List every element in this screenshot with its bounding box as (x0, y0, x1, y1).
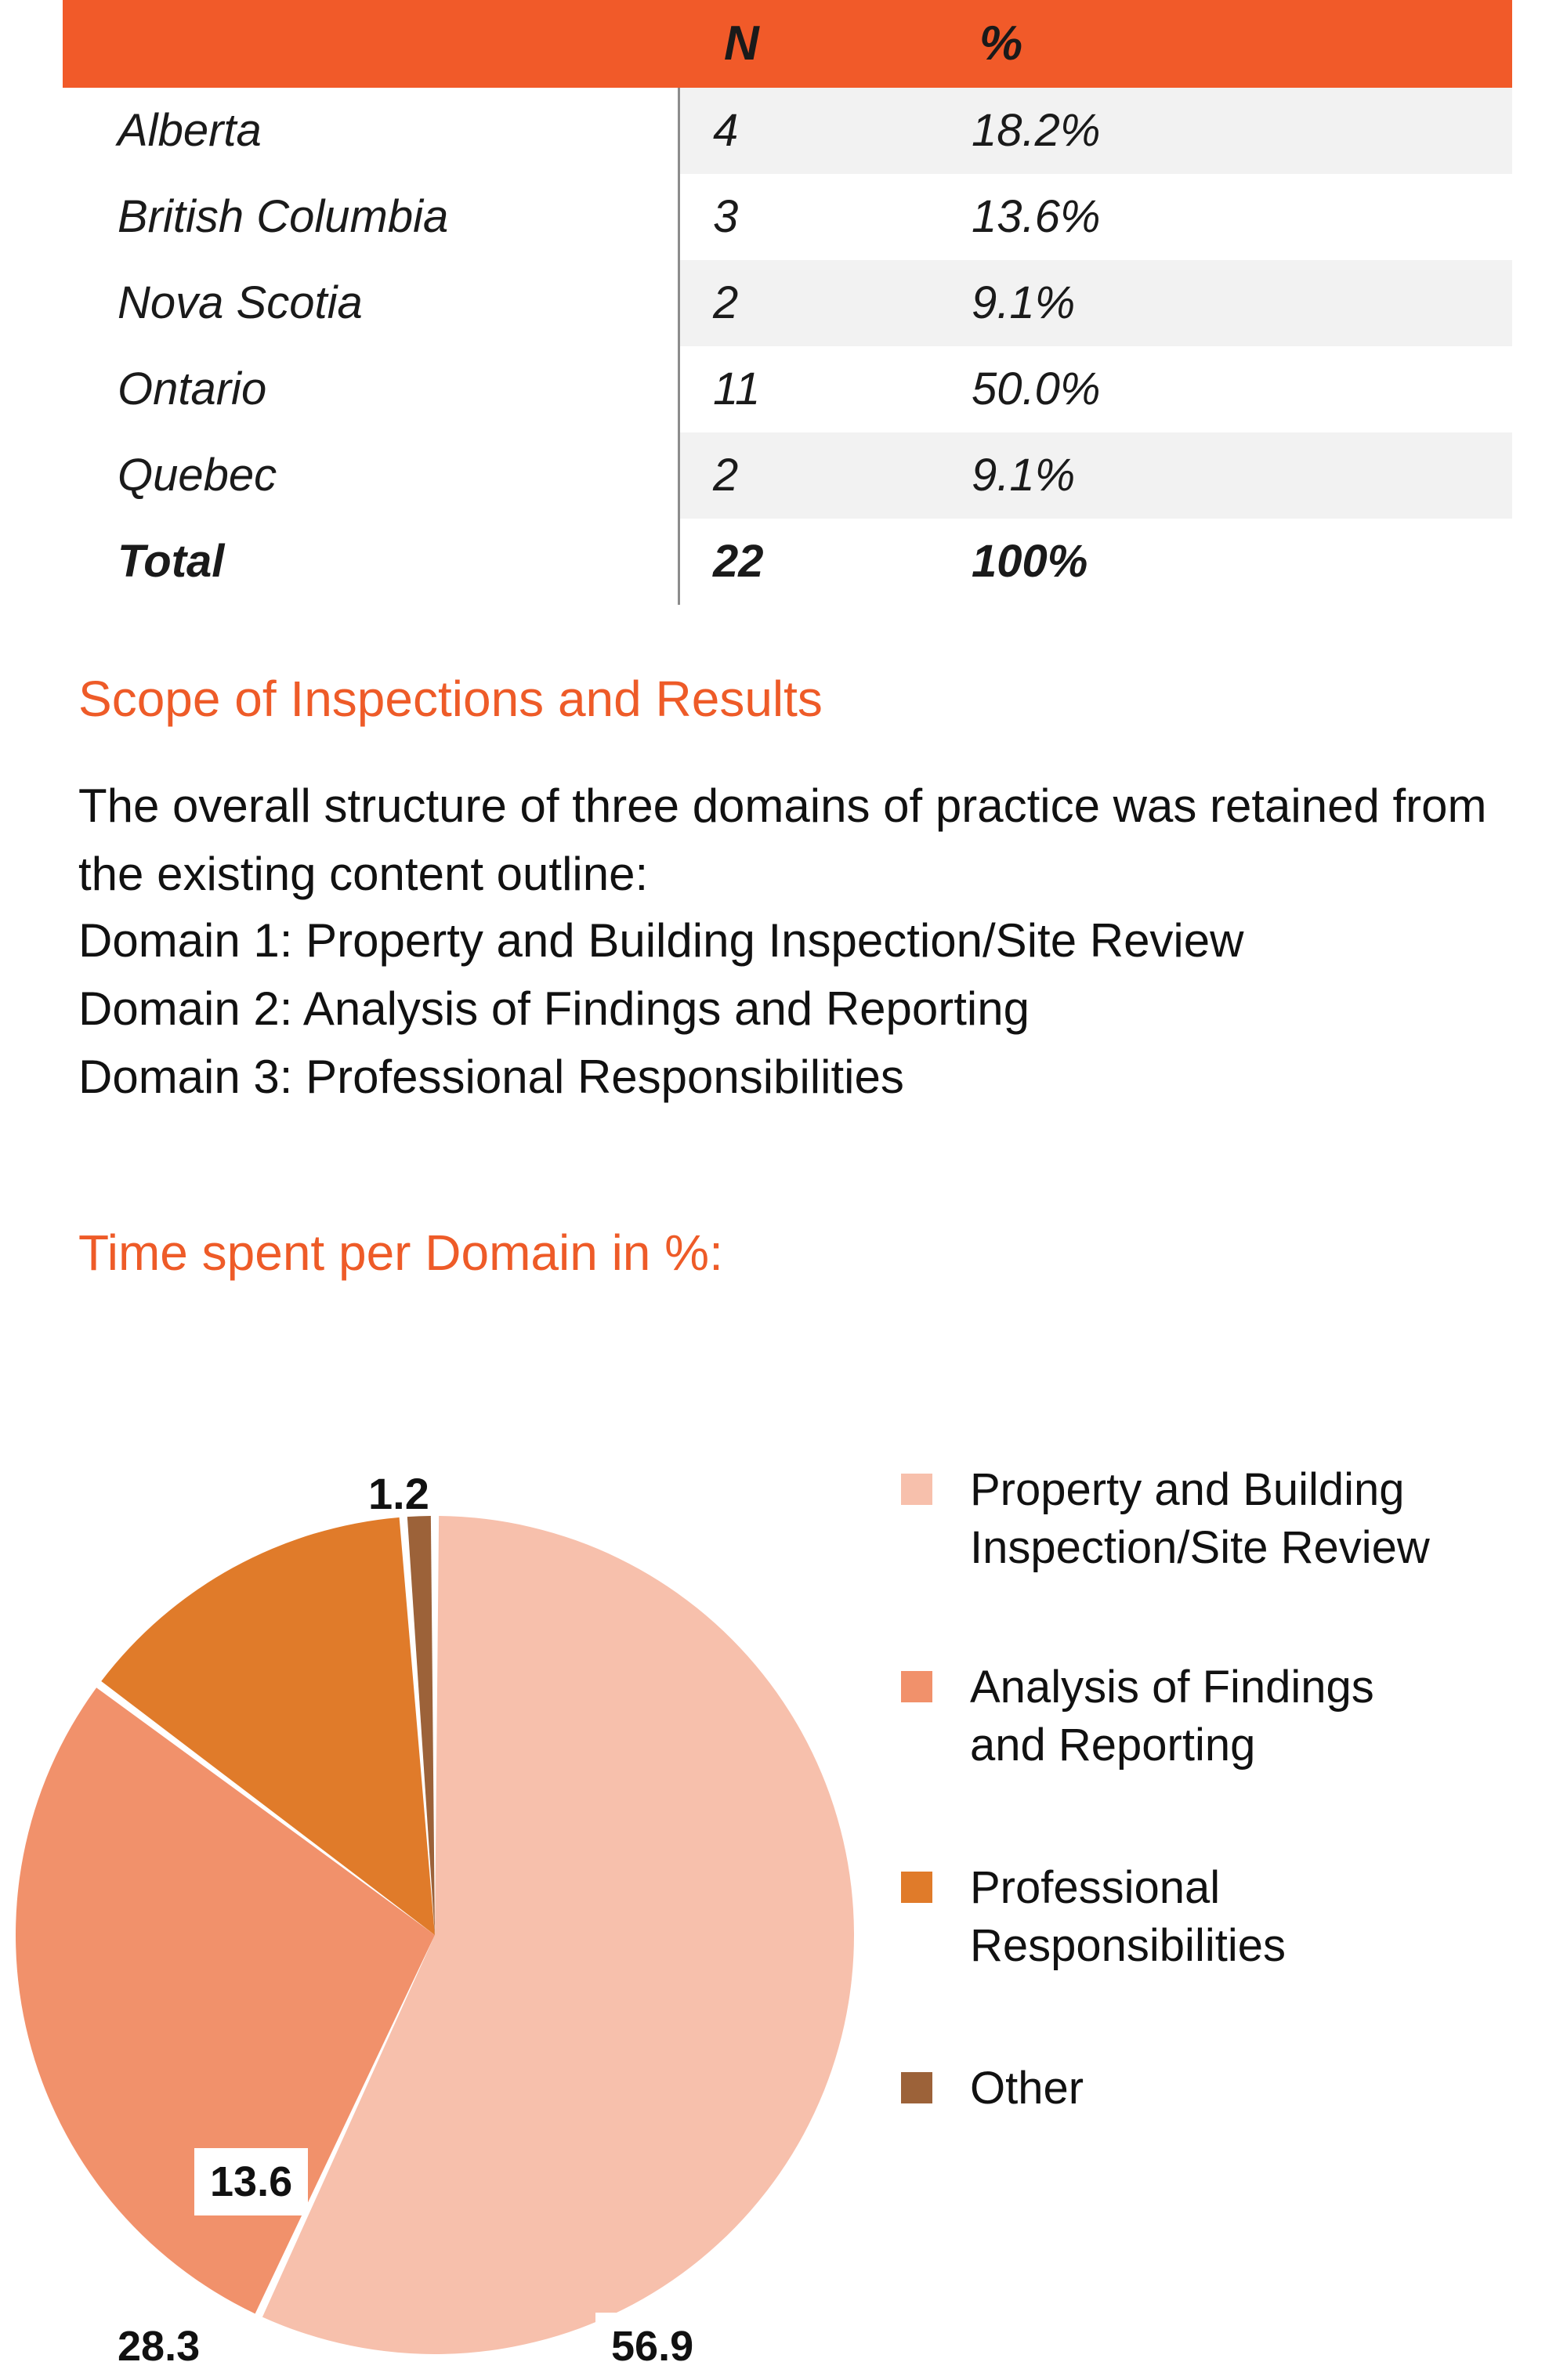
column-divider (678, 260, 680, 346)
row-label: Alberta (118, 88, 262, 174)
legend-item-domain3: Professional Responsibilities (901, 1859, 1543, 1975)
table-row: Nova Scotia 2 9.1% (63, 260, 1512, 346)
legend-item-domain1: Property and Building Inspection/Site Re… (901, 1461, 1543, 1577)
row-percent: 9.1% (972, 260, 1075, 346)
pie-data-label-domain2: 28.3 (102, 2313, 215, 2380)
legend-swatch-icon (901, 1872, 932, 1903)
pie-legend: Property and Building Inspection/Site Re… (901, 1461, 1543, 2193)
legend-label-line: Professional (970, 1859, 1543, 1917)
row-stripe (679, 432, 1512, 519)
row-percent: 13.6% (972, 174, 1100, 260)
row-label: Ontario (118, 346, 266, 432)
total-label: Total (118, 519, 224, 605)
row-stripe (679, 260, 1512, 346)
provinces-table: N % Alberta 4 18.2% British Columbia 3 1… (63, 0, 1512, 605)
total-percent: 100% (972, 519, 1087, 605)
legend-label-line: Responsibilities (970, 1917, 1543, 1975)
row-stripe (679, 519, 1512, 605)
row-count: 2 (713, 260, 738, 346)
legend-label-line: Property and Building (970, 1461, 1543, 1519)
row-count: 3 (713, 174, 738, 260)
column-header-pct: % (979, 0, 1022, 88)
table-row: Quebec 2 9.1% (63, 432, 1512, 519)
pie-data-label-domain3: 13.6 (194, 2148, 308, 2215)
domain-line-2: Domain 2: Analysis of Findings and Repor… (78, 975, 1030, 1043)
pie-chart: 56.9 28.3 13.6 1.2 (0, 1324, 862, 2360)
row-label: Quebec (118, 432, 277, 519)
column-divider (678, 346, 680, 432)
column-divider (678, 432, 680, 519)
row-percent: 18.2% (972, 88, 1100, 174)
total-count: 22 (713, 519, 764, 605)
column-divider (678, 519, 680, 605)
row-percent: 50.0% (972, 346, 1100, 432)
time-heading: Time spent per Domain in %: (78, 1224, 723, 1282)
legend-label-line: and Reporting (970, 1716, 1543, 1774)
legend-item-other: Other (901, 2060, 1543, 2118)
row-count: 11 (713, 346, 760, 432)
legend-label-line: Other (970, 2060, 1543, 2118)
row-percent: 9.1% (972, 432, 1075, 519)
pie-slices (16, 1516, 854, 2354)
row-label: Nova Scotia (118, 260, 363, 346)
legend-swatch-icon (901, 1671, 932, 1702)
legend-label-line: Analysis of Findings (970, 1658, 1543, 1716)
scope-paragraph: The overall structure of three domains o… (78, 772, 1489, 908)
pie-data-label-other: 1.2 (368, 1473, 429, 1515)
domain-line-3: Domain 3: Professional Responsibilities (78, 1043, 904, 1111)
scope-heading: Scope of Inspections and Results (78, 670, 823, 728)
row-label: British Columbia (118, 174, 448, 260)
table-total-row: Total 22 100% (63, 519, 1512, 605)
table-row: British Columbia 3 13.6% (63, 174, 1512, 260)
pie-data-label-domain1: 56.9 (595, 2313, 709, 2380)
domain-line-1: Domain 1: Property and Building Inspecti… (78, 906, 1243, 975)
column-divider (678, 88, 680, 174)
legend-item-domain2: Analysis of Findings and Reporting (901, 1658, 1543, 1774)
pie-chart-svg (0, 1324, 862, 2360)
table-row: Alberta 4 18.2% (63, 88, 1512, 174)
row-count: 2 (713, 432, 738, 519)
column-header-n: N (724, 0, 759, 88)
table-header-row: N % (63, 0, 1512, 88)
legend-swatch-icon (901, 1474, 932, 1505)
table-row: Ontario 11 50.0% (63, 346, 1512, 432)
legend-swatch-icon (901, 2072, 932, 2103)
column-divider (678, 174, 680, 260)
row-count: 4 (713, 88, 738, 174)
legend-label-line: Inspection/Site Review (970, 1519, 1543, 1577)
